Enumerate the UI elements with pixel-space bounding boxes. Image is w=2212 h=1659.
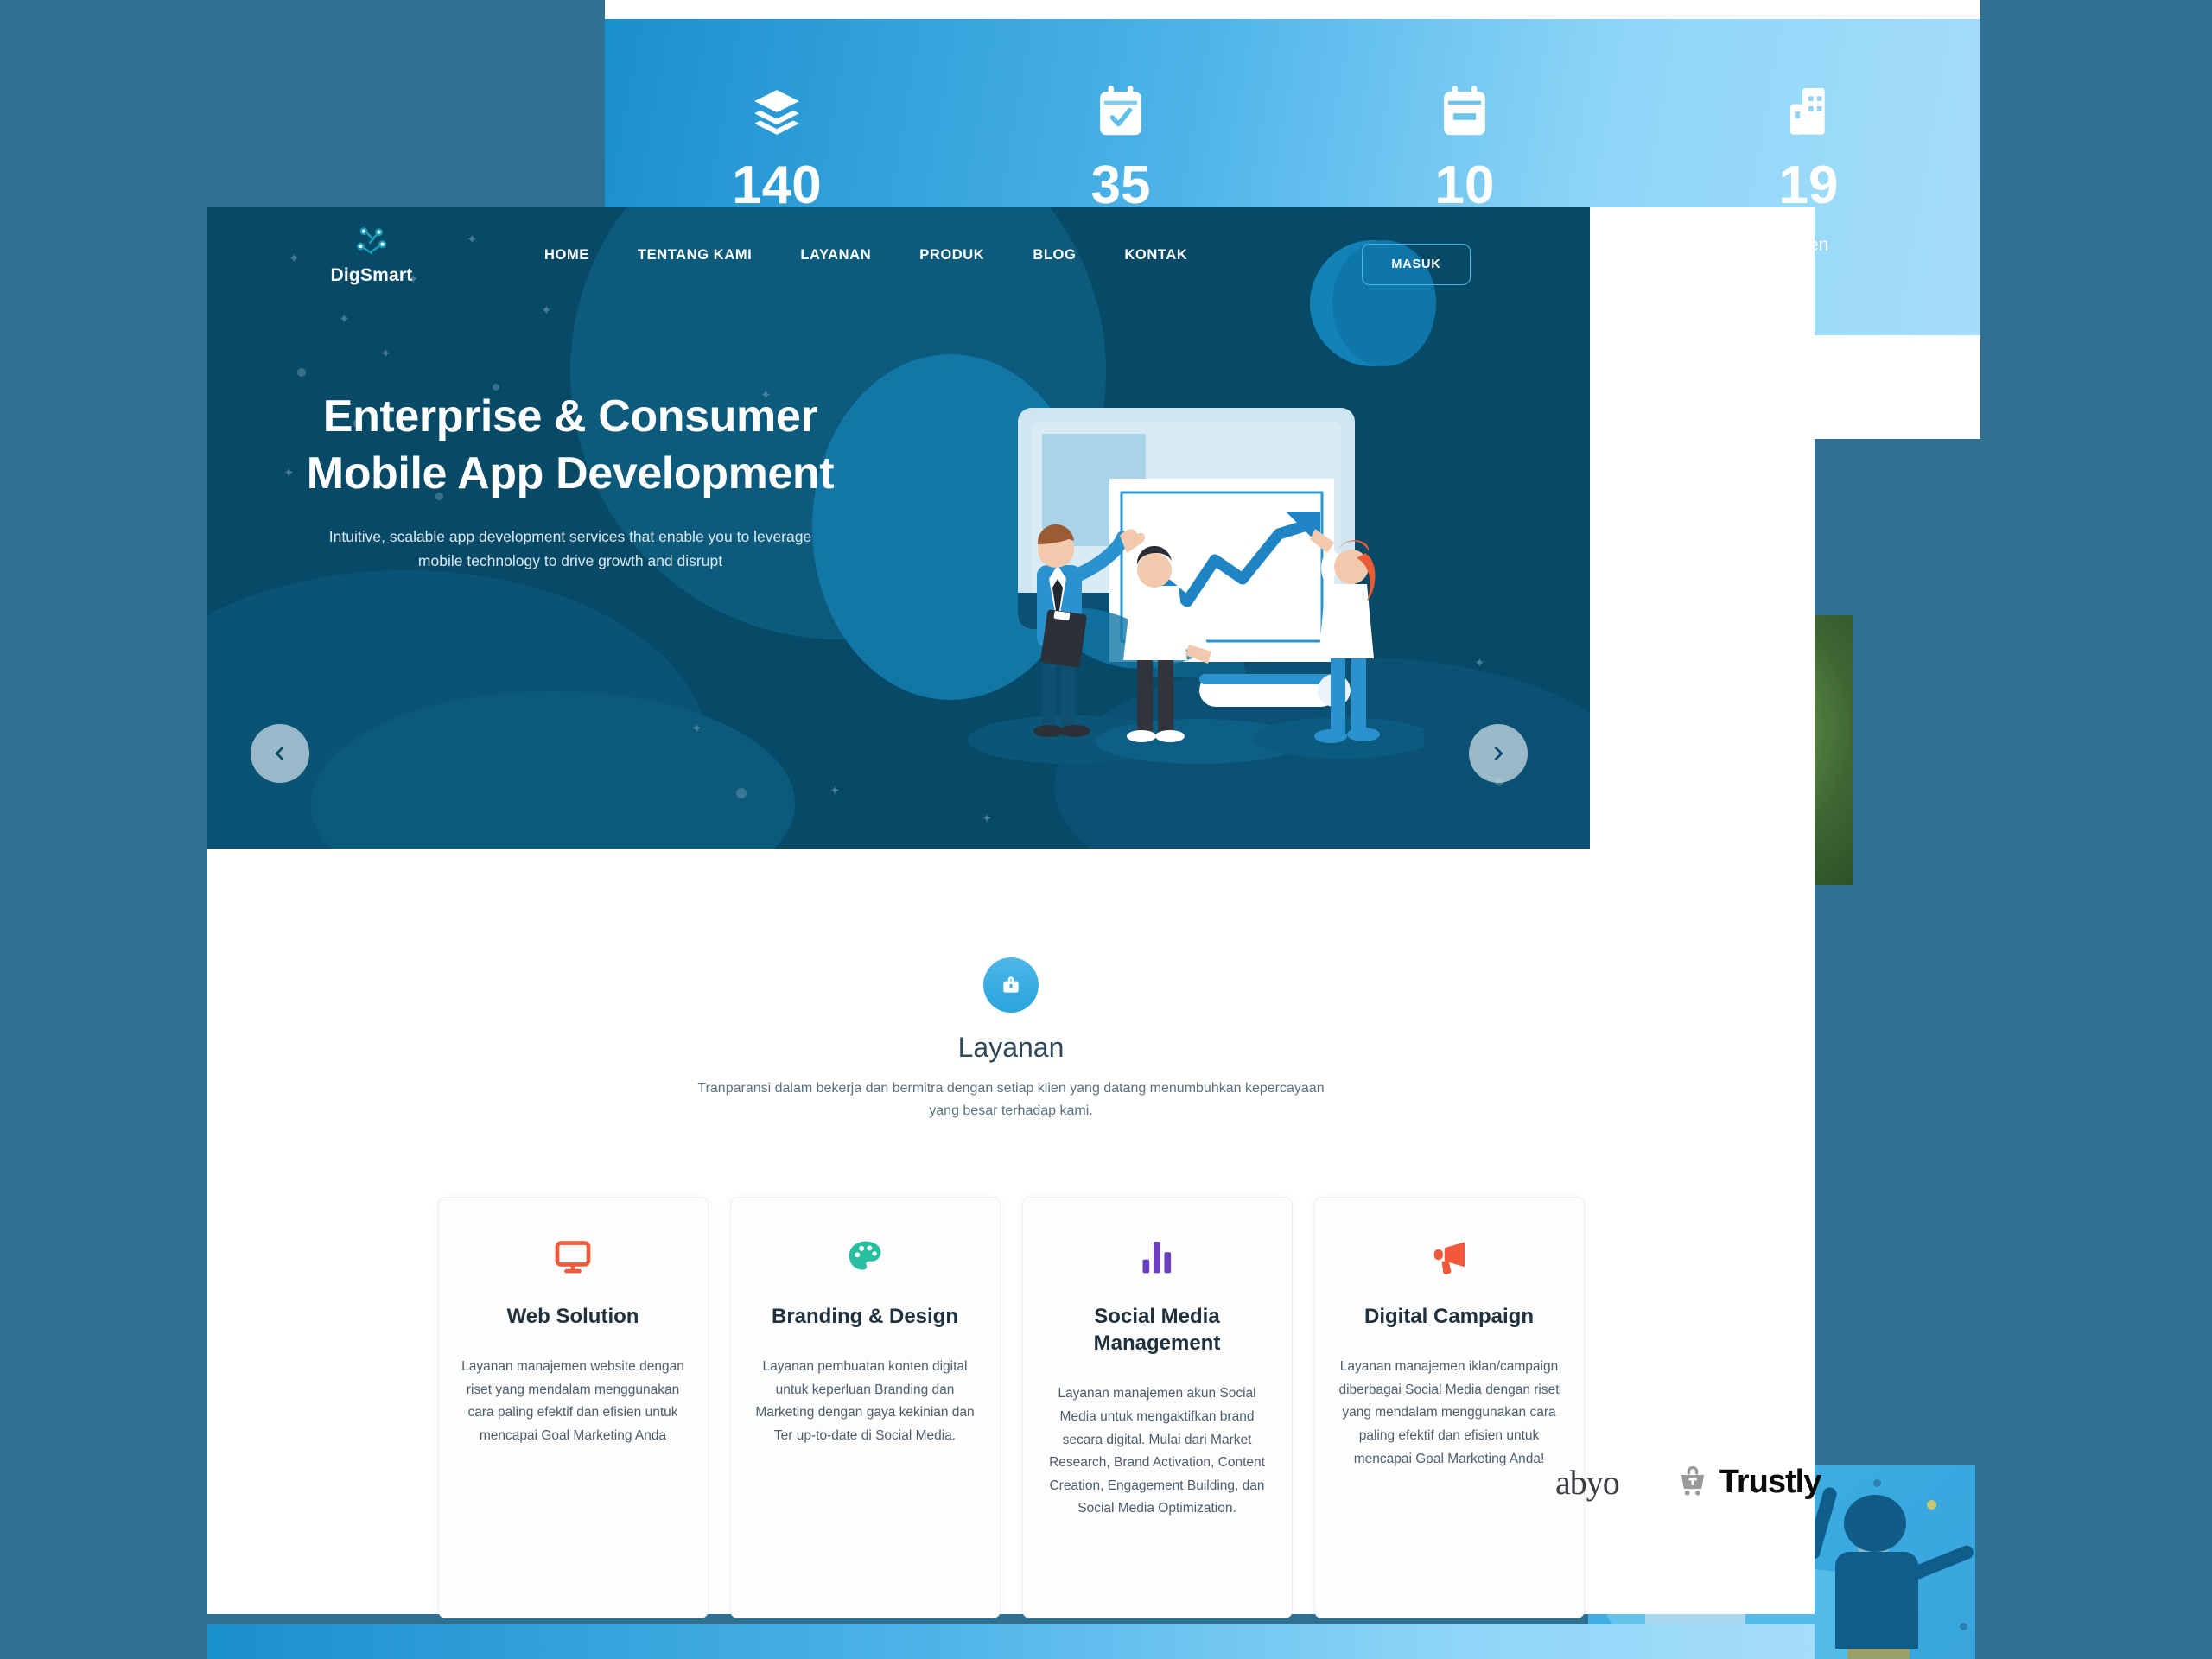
stat-value: 35 bbox=[1091, 159, 1151, 213]
service-card-title: Web Solution bbox=[461, 1303, 685, 1330]
calendar-check-icon bbox=[1096, 79, 1146, 145]
service-card-web-solution[interactable]: Web Solution Layanan manajemen website d… bbox=[438, 1197, 709, 1618]
hero-section: ✦ ✦ ✦ ✦ ✦ ✦ ✦ ✦ ✦ ✦ ✦ ✦ ✦ ✦ bbox=[207, 207, 1590, 849]
monitor-icon bbox=[461, 1234, 685, 1281]
service-card-title: Branding & Design bbox=[753, 1303, 977, 1330]
figure-arm bbox=[1910, 1543, 1975, 1580]
nav-item-home[interactable]: HOME bbox=[520, 247, 613, 264]
service-card-description: Layanan manajemen iklan/campaign diberba… bbox=[1338, 1356, 1561, 1471]
nav-item-tentang-kami[interactable]: TENTANG KAMI bbox=[613, 247, 776, 264]
nav-item-produk[interactable]: PRODUK bbox=[895, 247, 1008, 264]
partner-logos-strip: abyo Trustly bbox=[1555, 1434, 1953, 1529]
service-card-description: Layanan manajemen akun Social Media untu… bbox=[1046, 1382, 1269, 1521]
carousel-next-button[interactable] bbox=[1469, 724, 1528, 783]
service-card-description: Layanan manajemen website dengan riset y… bbox=[461, 1356, 685, 1448]
background-white-sheet-top bbox=[605, 0, 1980, 19]
service-card-branding-design[interactable]: Branding & Design Layanan pembuatan kont… bbox=[730, 1197, 1001, 1618]
hero-illustration bbox=[940, 396, 1424, 793]
building-icon bbox=[1784, 79, 1833, 145]
bar-chart-icon bbox=[1046, 1234, 1269, 1281]
bottom-gradient-strip bbox=[207, 1624, 1815, 1659]
service-card-title: Digital Campaign bbox=[1338, 1303, 1561, 1330]
stat-value: 140 bbox=[732, 159, 821, 213]
layers-icon bbox=[750, 79, 804, 145]
service-card-digital-campaign[interactable]: Digital Campaign Layanan manajemen iklan… bbox=[1314, 1197, 1585, 1618]
hero-title: Enterprise & Consumer Mobile App Develop… bbox=[207, 389, 933, 502]
main-page-sheet: ✦ ✦ ✦ ✦ ✦ ✦ ✦ ✦ ✦ ✦ ✦ ✦ ✦ ✦ bbox=[207, 207, 1815, 1614]
lock-cart-icon bbox=[1675, 1462, 1711, 1503]
hero-title-line-1: Enterprise & Consumer bbox=[323, 391, 817, 442]
login-button[interactable]: MASUK bbox=[1362, 244, 1471, 285]
figure-torso bbox=[1835, 1552, 1918, 1649]
palette-icon bbox=[753, 1234, 977, 1281]
services-subtitle: Tranparansi dalam bekerja dan bermitra d… bbox=[683, 1077, 1339, 1122]
services-title: Layanan bbox=[207, 1032, 1815, 1064]
stat-value: 19 bbox=[1779, 159, 1839, 213]
hero-title-line-2: Mobile App Development bbox=[307, 448, 834, 499]
partner-logo-trustly: Trustly bbox=[1675, 1462, 1821, 1503]
carousel-prev-button[interactable] bbox=[251, 724, 309, 783]
nav-links: HOME TENTANG KAMI LAYANAN PRODUK BLOG KO… bbox=[520, 247, 1211, 264]
tools-logo-icon bbox=[320, 224, 423, 262]
hero-subtitle: Intuitive, scalable app development serv… bbox=[207, 524, 933, 574]
briefcase-icon bbox=[983, 957, 1039, 1013]
services-card-grid: Web Solution Layanan manajemen website d… bbox=[207, 1197, 1815, 1618]
partner-logo-abyo: abyo bbox=[1555, 1462, 1619, 1503]
calendar-icon bbox=[1440, 79, 1490, 145]
partner-logo-trustly-text: Trustly bbox=[1719, 1464, 1821, 1501]
decor-dot bbox=[1960, 1623, 1967, 1630]
chevron-left-icon bbox=[270, 744, 289, 763]
service-card-title: Social Media Management bbox=[1046, 1303, 1269, 1357]
hero-text-block: Enterprise & Consumer Mobile App Develop… bbox=[207, 389, 933, 574]
service-card-social-media-management[interactable]: Social Media Management Layanan manajeme… bbox=[1022, 1197, 1293, 1618]
megaphone-icon bbox=[1338, 1234, 1561, 1281]
brand-name: DigSmart bbox=[320, 265, 423, 286]
nav-item-layanan[interactable]: LAYANAN bbox=[776, 247, 895, 264]
service-card-description: Layanan pembuatan konten digital untuk k… bbox=[753, 1356, 977, 1448]
chevron-right-icon bbox=[1489, 744, 1508, 763]
stat-value: 10 bbox=[1435, 159, 1495, 213]
screen-root: 140 35 bbox=[0, 0, 2212, 1659]
brand-logo[interactable]: DigSmart bbox=[320, 224, 423, 286]
nav-item-blog[interactable]: BLOG bbox=[1008, 247, 1100, 264]
nav-item-kontak[interactable]: KONTAK bbox=[1100, 247, 1211, 264]
main-navbar: DigSmart HOME TENTANG KAMI LAYANAN PRODU… bbox=[207, 207, 1590, 302]
